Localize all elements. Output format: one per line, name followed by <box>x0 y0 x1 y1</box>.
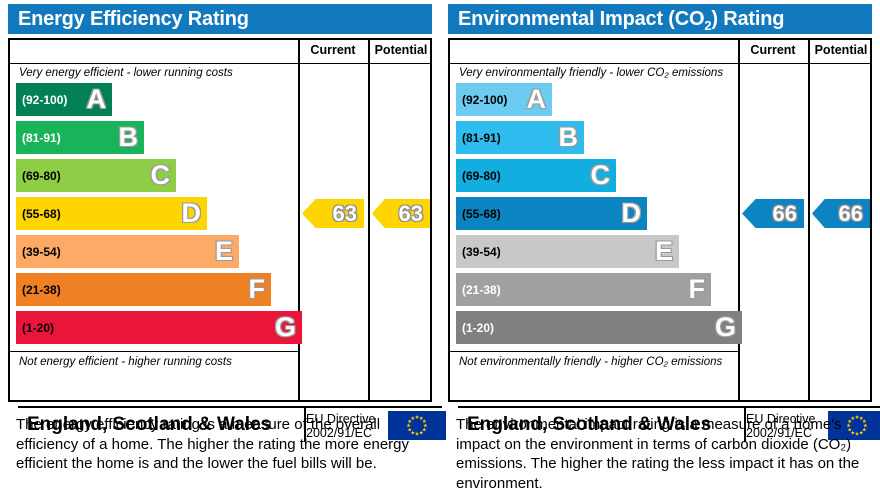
band-range-label: (81-91) <box>456 131 501 145</box>
band-range-label: (92-100) <box>16 93 67 107</box>
band-letter-label: A <box>87 86 107 113</box>
page-title-text: Environmental Impact (CO <box>458 8 704 30</box>
caption-top-friendly: Very environmentally friendly - lower CO… <box>450 64 738 83</box>
caption-top-efficient: Very energy efficient - lower running co… <box>10 64 298 83</box>
current-rating-arrow: 63 <box>302 199 364 228</box>
environmental-impact-chart-frame: Current Potential Very environmentally f… <box>448 38 872 402</box>
band-range-label: (1-20) <box>16 321 54 335</box>
band-range-label: (1-20) <box>456 321 494 335</box>
band-bar-d: (55-68)D <box>16 197 207 230</box>
caption-bottom-inefficient: Not energy efficient - higher running co… <box>10 351 298 371</box>
page-title-text: Energy Efficiency Rating <box>18 8 249 30</box>
band-bar-f: (21-38)F <box>456 273 711 306</box>
column-divider-current <box>298 40 300 400</box>
potential-rating-value: 63 <box>399 203 423 225</box>
band-bar-a: (92-100)A <box>456 83 552 116</box>
energy-efficiency-panel: Energy Efficiency Rating Current Potenti… <box>0 0 440 493</box>
energy-band-bars: (92-100)A(81-91)B(69-80)C(55-68)D(39-54)… <box>10 83 298 351</box>
band-letter-label: B <box>559 124 579 151</box>
band-bar-g: (1-20)G <box>456 311 742 344</box>
band-bar-c: (69-80)C <box>456 159 616 192</box>
band-letter-label: G <box>715 314 736 341</box>
band-range-label: (21-38) <box>16 283 61 297</box>
environmental-impact-description: The environmental impact rating is a mea… <box>456 415 866 493</box>
band-bar-e: (39-54)E <box>16 235 239 268</box>
column-header-potential: Potential <box>368 43 434 57</box>
band-letter-label: C <box>591 162 611 189</box>
band-bar-d: (55-68)D <box>456 197 647 230</box>
column-header-current: Current <box>738 43 808 57</box>
band-range-label: (55-68) <box>456 207 501 221</box>
band-bar-f: (21-38)F <box>16 273 271 306</box>
band-range-label: (92-100) <box>456 93 507 107</box>
band-range-label: (69-80) <box>16 169 61 183</box>
environmental-impact-title: Environmental Impact (CO2) Rating <box>448 4 872 34</box>
band-letter-label: F <box>689 276 706 303</box>
band-letter-label: E <box>655 238 673 265</box>
band-bar-b: (81-91)B <box>16 121 144 154</box>
band-bar-b: (81-91)B <box>456 121 584 154</box>
column-header-current: Current <box>298 43 368 57</box>
column-header-row: Current Potential <box>10 40 430 64</box>
column-divider-potential <box>808 40 810 400</box>
epc-certificate-page: Energy Efficiency Rating Current Potenti… <box>0 0 880 493</box>
co2-band-bars: (92-100)A(81-91)B(69-80)C(55-68)D(39-54)… <box>450 83 738 351</box>
band-letter-label: F <box>249 276 266 303</box>
band-letter-label: G <box>275 314 296 341</box>
potential-rating-arrow: 63 <box>372 199 430 228</box>
energy-efficiency-description: The energy efficiency rating is a measur… <box>16 415 426 474</box>
title-suffix: ) Rating <box>711 8 784 30</box>
band-bar-a: (92-100)A <box>16 83 112 116</box>
caption-bottom-unfriendly: Not environmentally friendly - higher CO… <box>450 351 738 371</box>
band-range-label: (21-38) <box>456 283 501 297</box>
band-range-label: (39-54) <box>456 245 501 259</box>
band-range-label: (39-54) <box>16 245 61 259</box>
band-range-label: (55-68) <box>16 207 61 221</box>
potential-rating-arrow-shape: 66 <box>812 199 870 228</box>
band-letter-label: A <box>527 86 547 113</box>
band-letter-label: C <box>151 162 171 189</box>
band-bar-e: (39-54)E <box>456 235 679 268</box>
column-header-potential: Potential <box>808 43 874 57</box>
potential-rating-value: 66 <box>839 203 863 225</box>
band-letter-label: E <box>215 238 233 265</box>
current-rating-value: 66 <box>773 203 797 225</box>
band-letter-label: D <box>622 200 642 227</box>
potential-rating-arrow: 66 <box>812 199 870 228</box>
current-rating-value: 63 <box>333 203 357 225</box>
band-range-label: (69-80) <box>456 169 501 183</box>
band-bar-g: (1-20)G <box>16 311 302 344</box>
current-rating-arrow-shape: 63 <box>302 199 364 228</box>
band-bar-c: (69-80)C <box>16 159 176 192</box>
band-range-label: (81-91) <box>16 131 61 145</box>
current-rating-arrow: 66 <box>742 199 804 228</box>
energy-efficiency-title: Energy Efficiency Rating <box>8 4 432 34</box>
environmental-impact-panel: Environmental Impact (CO2) Rating Curren… <box>440 0 880 493</box>
column-divider-potential <box>368 40 370 400</box>
energy-efficiency-chart-frame: Current Potential Very energy efficient … <box>8 38 432 402</box>
column-header-row: Current Potential <box>450 40 870 64</box>
band-letter-label: D <box>182 200 202 227</box>
current-rating-arrow-shape: 66 <box>742 199 804 228</box>
potential-rating-arrow-shape: 63 <box>372 199 430 228</box>
band-letter-label: B <box>119 124 139 151</box>
column-divider-current <box>738 40 740 400</box>
